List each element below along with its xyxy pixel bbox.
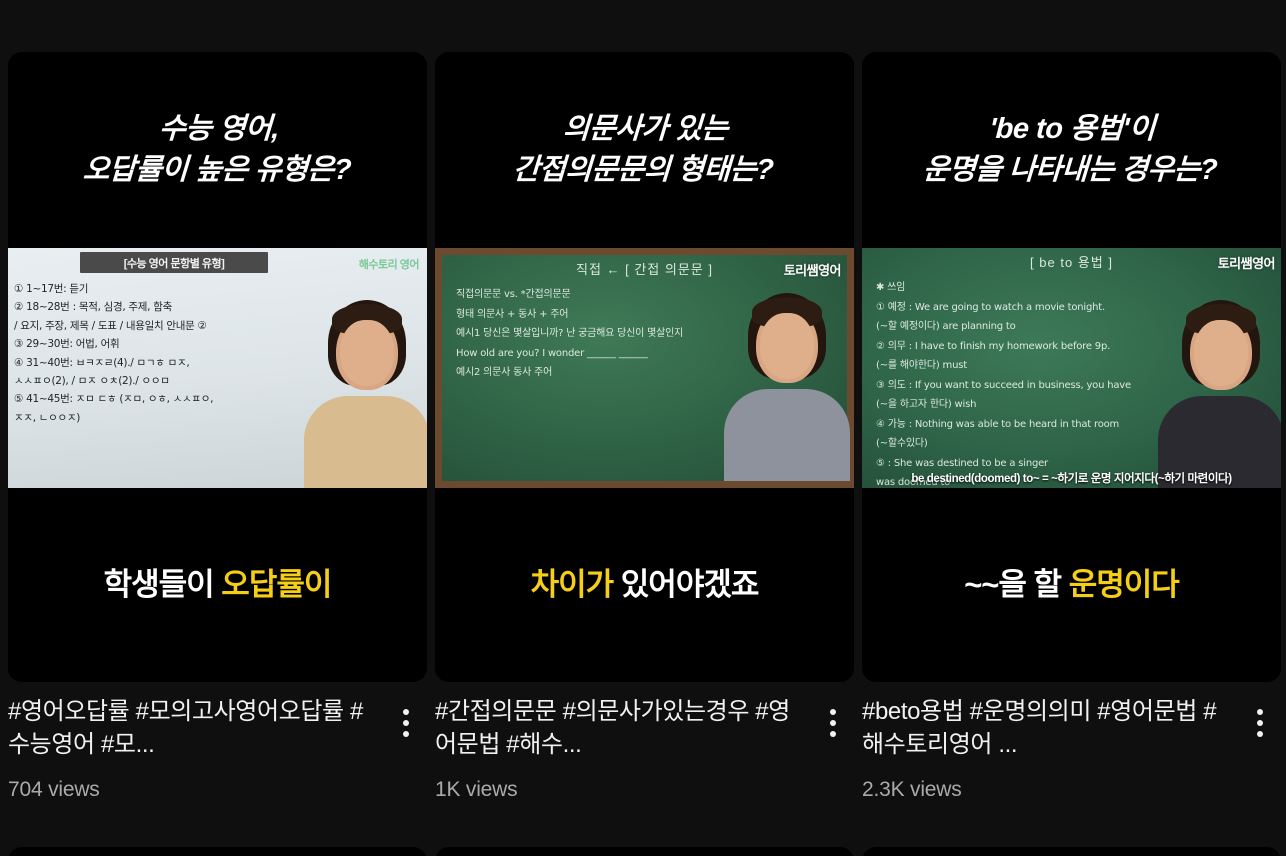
menu-dot (830, 709, 836, 715)
whiteboard-notes: ① 1~17번: 듣기 ② 18~28번 : 목적, 심경, 주제, 함축 / … (14, 280, 264, 427)
video-meta-text: #영어오답률 #모의고사영어오답률 #수능영어 #모... 704 views (8, 696, 385, 842)
presenter-figure (311, 298, 423, 488)
more-vertical-icon[interactable] (1239, 702, 1281, 744)
hook-line-1: 수능 영어, (84, 109, 354, 150)
channel-watermark: 해수토리 영어 (359, 256, 419, 272)
video-thumbnail[interactable] (862, 847, 1281, 856)
caption-plain: ~~을 할 (964, 567, 1068, 602)
whiteboard: [수능 영어 문항별 유형] 해수토리 영어 ① 1~17번: 듣기 ② 18~… (8, 248, 427, 488)
note-line: ⑤ 41~45번: ㅈㅁ ㄷㅎ (ㅈㅁ, ㅇㅎ, ㅅㅅㅍㅇ, (14, 390, 264, 408)
thumbnail-hook-overlay: 의문사가 있는 간접의문문의 형태는? (435, 52, 854, 248)
menu-dot (830, 731, 836, 737)
video-thumbnail[interactable]: 'be to 용법'이 운명을 나타내는 경우는? 토리쌤영어 [ be to … (862, 52, 1281, 682)
chalkboard-title: 직접 ← [ 간접 의문문 ] (442, 259, 847, 278)
video-title[interactable]: #간접의문문 #의문사가있는경우 #영어문법 #해수... (435, 696, 806, 762)
hook-line-1: 의문사가 있는 (514, 109, 777, 150)
video-meta: #영어오답률 #모의고사영어오답률 #수능영어 #모... 704 views (8, 682, 427, 842)
video-still: [수능 영어 문항별 유형] 해수토리 영어 ① 1~17번: 듣기 ② 18~… (8, 248, 427, 488)
video-still: 토리쌤영어 직접 ← [ 간접 의문문 ] 직접의문문 vs. *간접의문문 형… (435, 248, 854, 488)
presenter-face (1194, 320, 1248, 386)
presenter-figure (1165, 298, 1277, 488)
video-card: 수능 영어, 오답률이 높은 유형은? [수능 영어 문항별 유형] 해수토리 … (8, 52, 427, 842)
video-views: 2.3K views (862, 778, 1233, 802)
presenter-body (724, 389, 850, 481)
hook-line-2: 운명을 나타내는 경우는? (922, 150, 1218, 191)
thumbnail-hook-overlay: 'be to 용법'이 운명을 나타내는 경우는? (862, 52, 1281, 248)
hook-text: 의문사가 있는 간접의문문의 형태는? (502, 109, 787, 191)
video-card: 의문사가 있는 간접의문문의 형태는? 토리쌤영어 직접 ← [ 간접 의문문 … (435, 52, 854, 842)
video-still: 토리쌤영어 [ be to 용법 ] ✱ 쓰임 ① 예정 : We are go… (862, 248, 1281, 488)
note-line: ① 1~17번: 듣기 (14, 280, 264, 298)
menu-dot (1257, 709, 1263, 715)
thumbnail-hook-overlay: 수능 영어, 오답률이 높은 유형은? (8, 52, 427, 248)
menu-dot (830, 720, 836, 726)
video-subtitle: be destined(doomed) to~ = ~하기로 운명 지어지다(~… (862, 470, 1281, 486)
menu-dot (403, 731, 409, 737)
video-title[interactable]: #beto용법 #운명의의미 #영어문법 #해수토리영어 ... (862, 696, 1233, 762)
video-views: 1K views (435, 778, 806, 802)
video-grid-row-next (0, 847, 1286, 856)
whiteboard-banner: [수능 영어 문항별 유형] (80, 252, 268, 273)
thumbnail-caption-overlay: 학생들이 오답률이 (8, 488, 427, 682)
caption-highlight: 차이가 (531, 567, 614, 602)
caption-text: 차이가 있어야겠죠 (523, 566, 767, 603)
video-thumbnail[interactable] (8, 847, 427, 856)
note-line: ㅅㅅㅍㅇ(2), / ㅁㅈ ㅇㅊ(2)./ ㅇㅇㅁ (14, 372, 264, 390)
caption-text: ~~을 할 운명이다 (956, 566, 1187, 603)
video-views: 704 views (8, 778, 379, 802)
note-line: ② 18~28번 : 목적, 심경, 주제, 함축 (14, 298, 264, 316)
presenter-body (304, 396, 427, 488)
caption-plain: 학생들이 (104, 567, 222, 602)
caption-tail: 있어야겠죠 (613, 567, 758, 602)
note-line: ③ 29~30번: 어법, 어휘 (14, 335, 264, 353)
menu-dot (1257, 731, 1263, 737)
hook-line-2: 간접의문문의 형태는? (512, 150, 775, 191)
video-thumbnail[interactable] (435, 847, 854, 856)
chalkboard-title: [ be to 용법 ] (862, 252, 1281, 271)
video-meta-text: #간접의문문 #의문사가있는경우 #영어문법 #해수... 1K views (435, 696, 812, 842)
more-vertical-icon[interactable] (385, 702, 427, 744)
video-meta-text: #beto용법 #운명의의미 #영어문법 #해수토리영어 ... 2.3K vi… (862, 696, 1239, 842)
note-line: ④ 31~40번: ㅂㅋㅈㄹ(4)./ ㅁㄱㅎ ㅁㅈ, (14, 354, 264, 372)
presenter-face (760, 313, 814, 379)
video-meta: #beto용법 #운명의의미 #영어문법 #해수토리영어 ... 2.3K vi… (862, 682, 1281, 842)
menu-dot (403, 709, 409, 715)
video-card (8, 847, 427, 856)
menu-dot (403, 720, 409, 726)
note-line: / 요지, 주장, 제목 / 도표 / 내용일치 안내문 ② (14, 317, 264, 335)
video-thumbnail[interactable]: 수능 영어, 오답률이 높은 유형은? [수능 영어 문항별 유형] 해수토리 … (8, 52, 427, 682)
video-meta: #간접의문문 #의문사가있는경우 #영어문법 #해수... 1K views (435, 682, 854, 842)
thumbnail-caption-overlay: 차이가 있어야겠죠 (435, 488, 854, 682)
video-title[interactable]: #영어오답률 #모의고사영어오답률 #수능영어 #모... (8, 696, 379, 762)
caption-highlight: 오답률이 (221, 567, 331, 602)
video-thumbnail[interactable]: 의문사가 있는 간접의문문의 형태는? 토리쌤영어 직접 ← [ 간접 의문문 … (435, 52, 854, 682)
more-vertical-icon[interactable] (812, 702, 854, 744)
video-card (435, 847, 854, 856)
thumbnail-caption-overlay: ~~을 할 운명이다 (862, 488, 1281, 682)
hook-text: 'be to 용법'이 운명을 나타내는 경우는? (912, 109, 1230, 191)
hook-line-1: 'be to 용법'이 (924, 109, 1220, 150)
presenter-figure (731, 291, 843, 481)
video-grid-row: 수능 영어, 오답률이 높은 유형은? [수능 영어 문항별 유형] 해수토리 … (0, 52, 1286, 842)
presenter-face (340, 320, 394, 386)
video-card: 'be to 용법'이 운명을 나타내는 경우는? 토리쌤영어 [ be to … (862, 52, 1281, 842)
video-card (862, 847, 1281, 856)
menu-dot (1257, 720, 1263, 726)
shorts-grid: 수능 영어, 오답률이 높은 유형은? [수능 영어 문항별 유형] 해수토리 … (0, 0, 1286, 856)
hook-text: 수능 영어, 오답률이 높은 유형은? (71, 109, 363, 191)
caption-text: 학생들이 오답률이 (96, 566, 340, 603)
note-line: ㅈㅈ, ㄴㅇㅇㅈ) (14, 409, 264, 427)
note-line: ✱ 쓰임 (876, 278, 1221, 298)
hook-line-2: 오답률이 높은 유형은? (81, 150, 351, 191)
chalkboard: 토리쌤영어 [ be to 용법 ] ✱ 쓰임 ① 예정 : We are go… (862, 248, 1281, 488)
chalkboard: 토리쌤영어 직접 ← [ 간접 의문문 ] 직접의문문 vs. *간접의문문 형… (435, 248, 854, 488)
caption-highlight: 운명이다 (1069, 567, 1179, 602)
